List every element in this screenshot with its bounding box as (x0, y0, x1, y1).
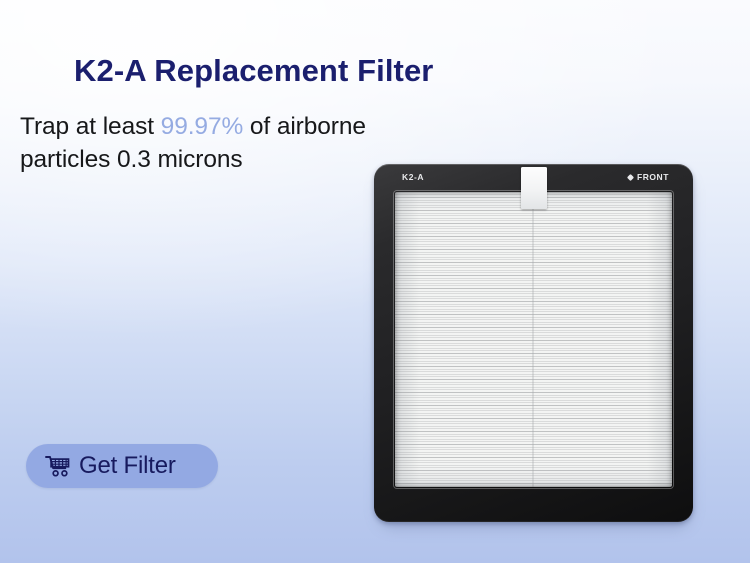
get-filter-button[interactable]: Get Filter (26, 444, 218, 488)
filter-media-pleats (395, 192, 672, 487)
subheadline: Trap at least 99.97% of airborne particl… (20, 110, 440, 176)
subheadline-prefix: Trap at least (20, 113, 161, 140)
promo-banner: K2-A Replacement Filter Trap at least 99… (0, 0, 750, 563)
page-title: K2-A Replacement Filter (74, 52, 433, 90)
diamond-marker-icon (627, 174, 634, 181)
filter-front-text: FRONT (637, 172, 669, 183)
get-filter-button-label: Get Filter (79, 454, 176, 478)
product-image: K2-A FRONT (372, 162, 697, 528)
efficiency-highlight: 99.97% (161, 113, 244, 140)
filter-front-label: FRONT (628, 172, 669, 183)
filter-frame: K2-A FRONT (374, 164, 693, 522)
shopping-cart-icon (44, 454, 72, 478)
filter-pull-tab (521, 167, 547, 209)
